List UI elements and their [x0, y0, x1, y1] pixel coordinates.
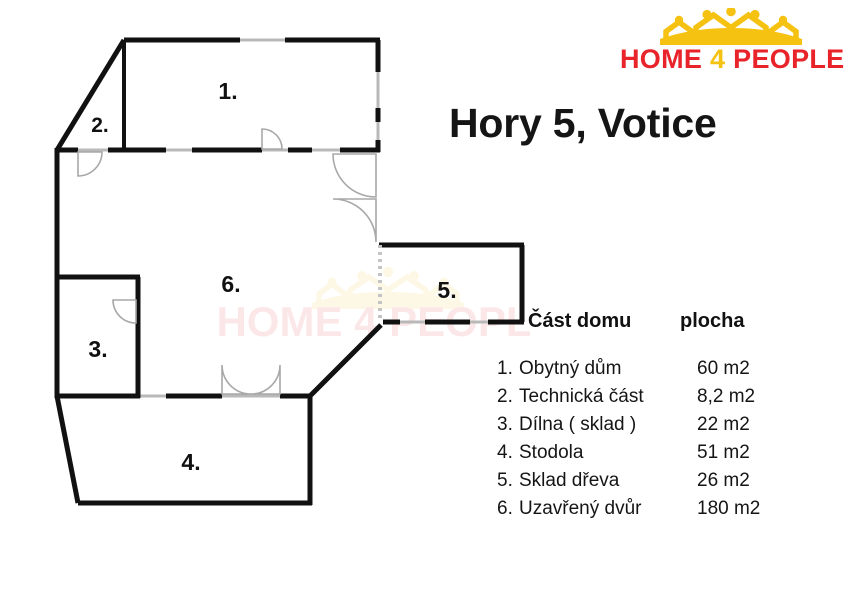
legend-row-area: 51 m2 [697, 442, 750, 464]
door-arc-courtyard-right-upper [333, 154, 376, 197]
legend-row: 3. Dílna ( sklad ) 22 m2 [497, 414, 827, 442]
legend-row: 4. Stodola 51 m2 [497, 442, 827, 470]
legend-row-index: 4. [497, 442, 519, 464]
legend-rows: 1. Obytný dům 60 m2 2. Technická část 8,… [497, 358, 827, 526]
room-label-4: 4. [181, 449, 200, 475]
legend-row-index: 1. [497, 358, 519, 380]
legend-header-part: Část domu [528, 310, 631, 333]
legend-row-area: 180 m2 [697, 498, 760, 520]
room-label-2: 2. [91, 114, 109, 137]
room-label-6: 6. [221, 271, 240, 297]
legend-row-name: Uzavřený dvůr [519, 498, 642, 520]
room-label-3: 3. [88, 336, 107, 362]
legend-row-index: 3. [497, 414, 519, 436]
door-arc-courtyard-right-lower [333, 199, 376, 242]
legend-table: Část domu plocha 1. Obytný dům 60 m2 2. … [497, 310, 827, 526]
legend-row-name: Obytný dům [519, 358, 621, 380]
legend-row-index: 5. [497, 470, 519, 492]
legend-row-index: 6. [497, 498, 519, 520]
logo-text: HOME 4 PEOPLE [620, 44, 840, 75]
door-arc-room3 [113, 300, 136, 323]
legend-row: 5. Sklad dřeva 26 m2 [497, 470, 827, 498]
legend-row: 1. Obytný dům 60 m2 [497, 358, 827, 386]
floor-plan-page: HOME 4 PEOPLE Hory 5, Votice HOME 4 PEOP… [0, 0, 848, 600]
legend-row: 2. Technická část 8,2 m2 [497, 386, 827, 414]
legend-row-area: 60 m2 [697, 358, 750, 380]
legend-header-row: Část domu plocha [497, 310, 827, 344]
room-label-1: 1. [218, 78, 237, 104]
crown-logo-icon [658, 8, 804, 46]
home-4-people-logo: HOME 4 PEOPLE [620, 8, 840, 80]
legend-row: 6. Uzavřený dvůr 180 m2 [497, 498, 827, 526]
door-arc-room2 [78, 152, 102, 176]
door-arc-courtyard-bottom-left [222, 365, 251, 394]
door-arc-courtyard-bottom-right [251, 365, 280, 394]
legend-row-index: 2. [497, 386, 519, 408]
legend-row-name: Stodola [519, 442, 583, 464]
legend-row-area: 26 m2 [697, 470, 750, 492]
legend-row-name: Sklad dřeva [519, 470, 619, 492]
logo-text-people: PEOPLE [725, 44, 844, 74]
door-arc-room1-left [262, 129, 282, 149]
logo-text-home: HOME [620, 44, 710, 74]
logo-text-four: 4 [710, 44, 725, 74]
room-label-5: 5. [437, 277, 456, 303]
legend-row-area: 22 m2 [697, 414, 750, 436]
legend-header-area: plocha [680, 310, 744, 333]
floor-plan-drawing: HOME 4 PEOPLE [0, 0, 530, 560]
legend-row-area: 8,2 m2 [697, 386, 755, 408]
legend-row-name: Dílna ( sklad ) [519, 414, 636, 436]
legend-row-name: Technická část [519, 386, 644, 408]
